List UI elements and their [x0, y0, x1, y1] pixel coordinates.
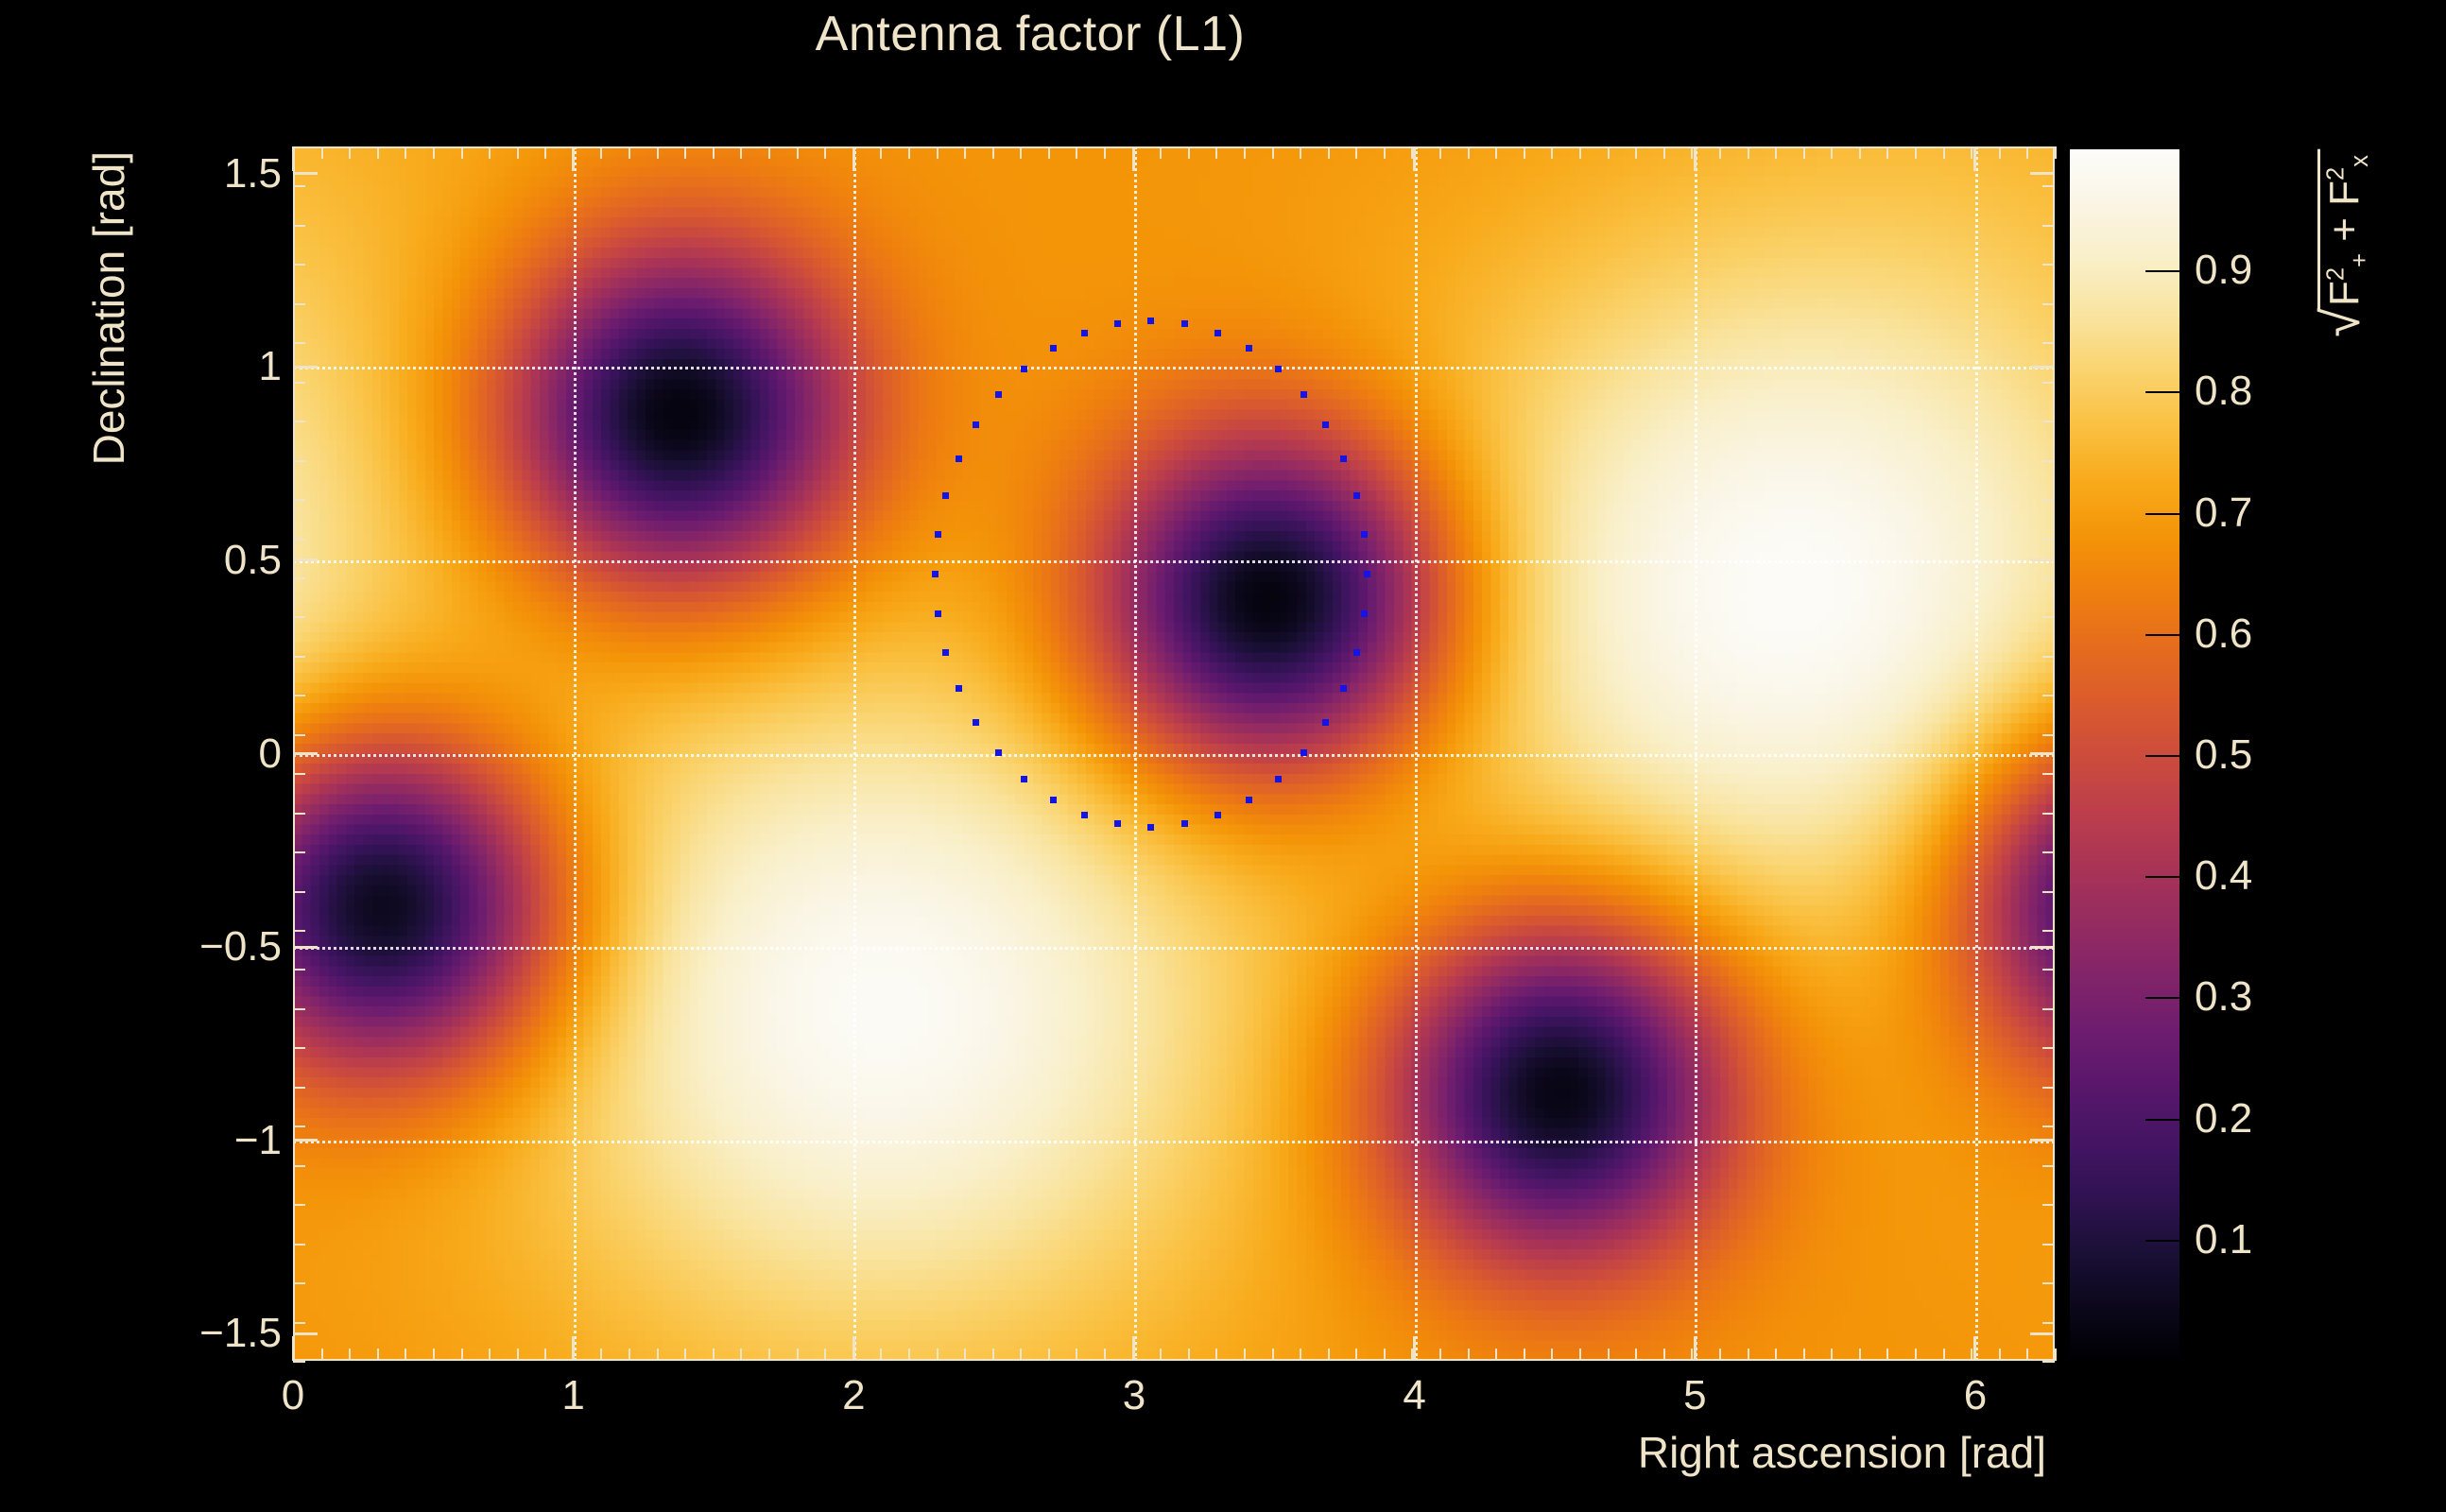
- y-tick-label: 0: [259, 730, 282, 778]
- x-axis-title: Right ascension [rad]: [1638, 1427, 2046, 1478]
- x-tick-label: 3: [1123, 1372, 1145, 1419]
- colorbar: [2070, 149, 2179, 1361]
- sqrt-sign: √: [2317, 308, 2366, 337]
- colorbar-tick-label: 0.5: [2195, 731, 2252, 779]
- x-tick-label: 1: [561, 1372, 584, 1419]
- colorbar-tick-label: 0.4: [2195, 852, 2252, 900]
- colorbar-title: √ F2+ + F2x: [2317, 149, 2367, 337]
- colorbar-tick-label: 0.1: [2195, 1216, 2252, 1263]
- y-tick-label: 0.5: [224, 537, 282, 584]
- y-tick-label: 1.5: [224, 150, 282, 198]
- y-minor-tick: [2042, 1361, 2055, 1363]
- x-tick-label: 0: [282, 1372, 304, 1419]
- x-tick-label: 4: [1403, 1372, 1425, 1419]
- colorbar-tick-label: 0.9: [2195, 247, 2252, 294]
- x-tick-label: 5: [1683, 1372, 1706, 1419]
- heatmap-image: [293, 146, 2055, 1361]
- x-minor-tick: [2055, 1349, 2057, 1361]
- y-tick-label: 1: [259, 343, 282, 390]
- sqrt-expression: √ F2+ + F2x: [2317, 149, 2366, 337]
- page-title: Antenna factor (L1): [0, 6, 2060, 62]
- y-minor-tick: [293, 1361, 305, 1363]
- colorbar-tick-label: 0.8: [2195, 368, 2252, 415]
- y-tick-label: −0.5: [199, 923, 282, 971]
- x-tick-label: 2: [842, 1372, 865, 1419]
- colorbar-tick-label: 0.2: [2195, 1095, 2252, 1143]
- colorbar-tick-label: 0.3: [2195, 973, 2252, 1021]
- x-tick-label: 6: [1964, 1372, 1987, 1419]
- colorbar-tick-label: 0.6: [2195, 610, 2252, 658]
- plot-canvas: Antenna factor (L1) 0123456 1.510.50−0.5…: [0, 0, 2446, 1512]
- heatmap-frame: [293, 146, 2055, 1361]
- sqrt-body: F2+ + F2x: [2317, 149, 2366, 310]
- colorbar-tick-label: 0.7: [2195, 490, 2252, 537]
- y-tick-label: −1.5: [199, 1310, 282, 1357]
- x-minor-tick: [2055, 146, 2057, 159]
- y-axis-title: Declination [rad]: [83, 151, 134, 465]
- y-tick-label: −1: [234, 1117, 282, 1164]
